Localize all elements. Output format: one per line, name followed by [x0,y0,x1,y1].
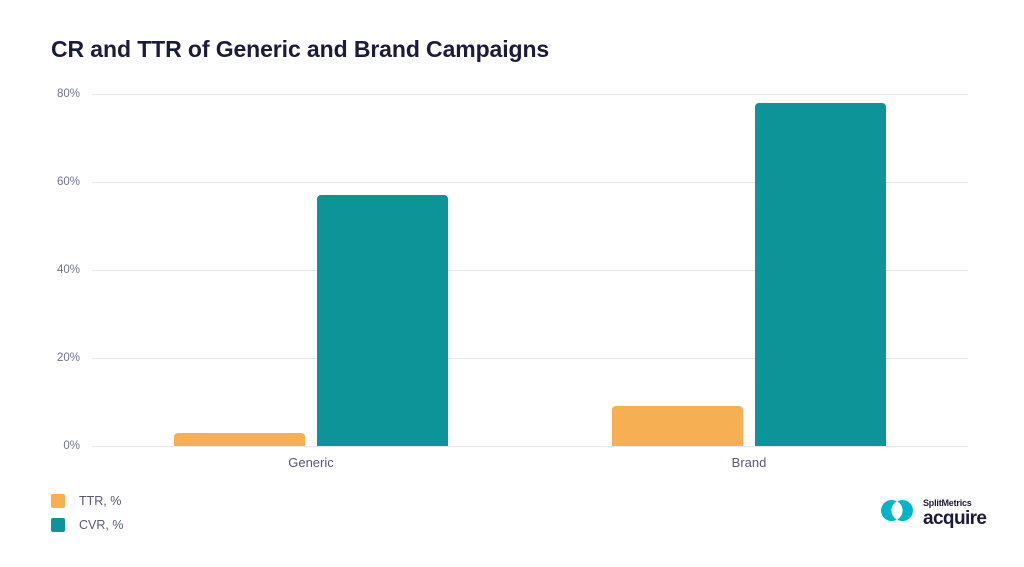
y-axis-tick-label: 40% [0,264,80,276]
gridline [92,446,968,447]
y-axis-tick-label: 80% [0,88,80,100]
legend-swatch-icon [51,518,65,532]
y-axis-tick-label: 60% [0,176,80,188]
chart-legend: TTR, %CVR, % [51,491,123,539]
y-axis-tick-label: 20% [0,352,80,364]
x-axis-tick-label: Brand [732,455,767,470]
x-axis: GenericBrand [92,455,968,477]
logo-bottom-text: acquire [923,509,986,528]
legend-item[interactable]: CVR, % [51,515,123,534]
bar-generic-ttr [174,433,305,446]
splitmetrics-logo-icon [880,497,914,529]
y-axis-tick-label: 0% [0,440,80,452]
bar-brand-cvr [755,103,886,446]
chart-title: CR and TTR of Generic and Brand Campaign… [51,36,549,63]
legend-item-label: TTR, % [79,494,121,508]
brand-logo: SplitMetrics acquire [880,497,986,529]
chart-card: CR and TTR of Generic and Brand Campaign… [0,0,1024,567]
legend-swatch-icon [51,494,65,508]
legend-item[interactable]: TTR, % [51,491,123,510]
logo-wordmark: SplitMetrics acquire [923,499,986,528]
legend-item-label: CVR, % [79,518,123,532]
x-axis-tick-label: Generic [288,455,334,470]
y-axis: 0%20%40%60%80% [0,94,80,446]
gridline [92,94,968,95]
bar-generic-cvr [317,195,448,446]
logo-top-text: SplitMetrics [923,499,986,508]
bar-brand-ttr [612,406,743,446]
plot-area [92,94,968,446]
